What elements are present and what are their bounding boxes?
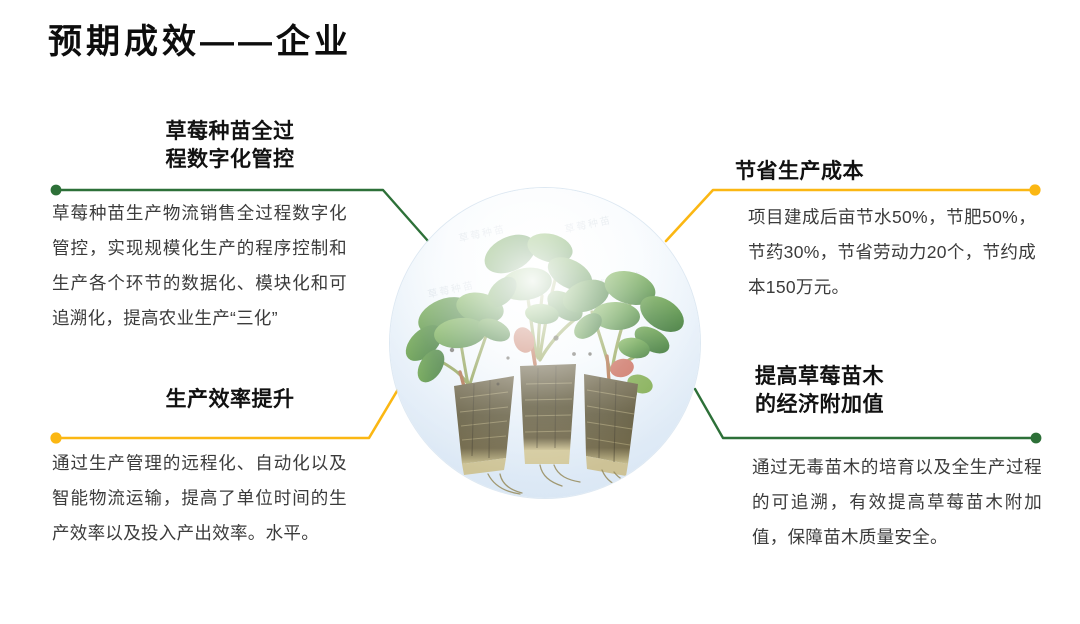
quadrant-body-bottom-right: 通过无毒苗木的培育以及全生产过程的可追溯，有效提高草莓苗木附加值，保障苗木质量安… [752,450,1042,555]
quadrant-body-top-left: 草莓种苗生产物流销售全过程数字化管控，实现规模化生产的程序控制和生产各个环节的数… [52,196,347,336]
quadrant-heading-bottom-left: 生产效率提升 [110,386,350,414]
connector-dot-top-left [51,185,62,196]
connector-dot-bottom-left [50,432,61,443]
strawberry-seedlings-photo: 草莓种苗 草莓种苗 草莓种苗 草莓种苗 [390,188,700,498]
connector-dot-top-right [1029,184,1040,195]
quadrant-body-bottom-left: 通过生产管理的远程化、自动化以及智能物流运输，提高了单位时间的生产效率以及投入产… [52,446,347,551]
quadrant-heading-top-left: 草莓种苗全过 程数字化管控 [110,118,350,173]
photo-glow-overlay [390,188,700,498]
quadrant-body-top-right: 项目建成后亩节水50%，节肥50%，节药30%，节省劳动力20个，节约成本150… [748,200,1036,305]
connector-dot-bottom-right [1031,433,1042,444]
quadrant-heading-top-right: 节省生产成本 [735,158,985,186]
quadrant-heading-bottom-right: 提高草莓苗木 的经济附加值 [755,363,1005,418]
slide-canvas: 预期成效——企业 草莓种苗 草莓种苗 草莓种苗 草莓种苗 [0,0,1080,624]
page-title: 预期成效——企业 [48,20,352,64]
